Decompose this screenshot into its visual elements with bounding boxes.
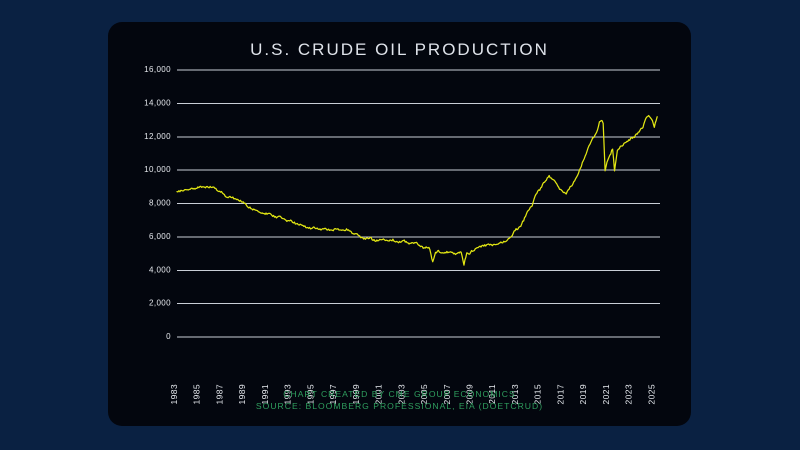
- y-axis-tick-label: 12,000: [144, 132, 171, 141]
- y-axis-tick-label: 2,000: [149, 299, 171, 308]
- chart-footer: CHART CREATED BY CME GROUP ECONOMICS SOU…: [108, 388, 691, 412]
- line-chart-svg: 16,00014,00012,00010,0008,0006,0004,0002…: [108, 22, 691, 426]
- y-axis-tick-labels: 16,00014,00012,00010,0008,0006,0004,0002…: [144, 65, 171, 341]
- y-axis-tick-label: 4,000: [149, 265, 171, 274]
- series-line: [177, 116, 657, 266]
- y-axis-tick-label: 0: [166, 332, 171, 341]
- y-axis-tick-label: 10,000: [144, 165, 171, 174]
- chart-screenshot: U.S. CRUDE OIL PRODUCTION 16,00014,00012…: [0, 0, 800, 450]
- y-axis-tick-label: 6,000: [149, 232, 171, 241]
- footer-credit: CHART CREATED BY CME GROUP ECONOMICS: [108, 388, 691, 400]
- y-axis-tick-label: 16,000: [144, 65, 171, 74]
- data-series: [177, 116, 657, 266]
- plot-area: 16,00014,00012,00010,0008,0006,0004,0002…: [108, 22, 691, 426]
- gridlines: [177, 70, 660, 337]
- chart-card: U.S. CRUDE OIL PRODUCTION 16,00014,00012…: [108, 22, 691, 426]
- footer-source: SOURCE: BLOOMBERG PROFESSIONAL, EIA (DOE…: [108, 400, 691, 412]
- y-axis-tick-label: 14,000: [144, 98, 171, 107]
- y-axis-tick-label: 8,000: [149, 199, 171, 208]
